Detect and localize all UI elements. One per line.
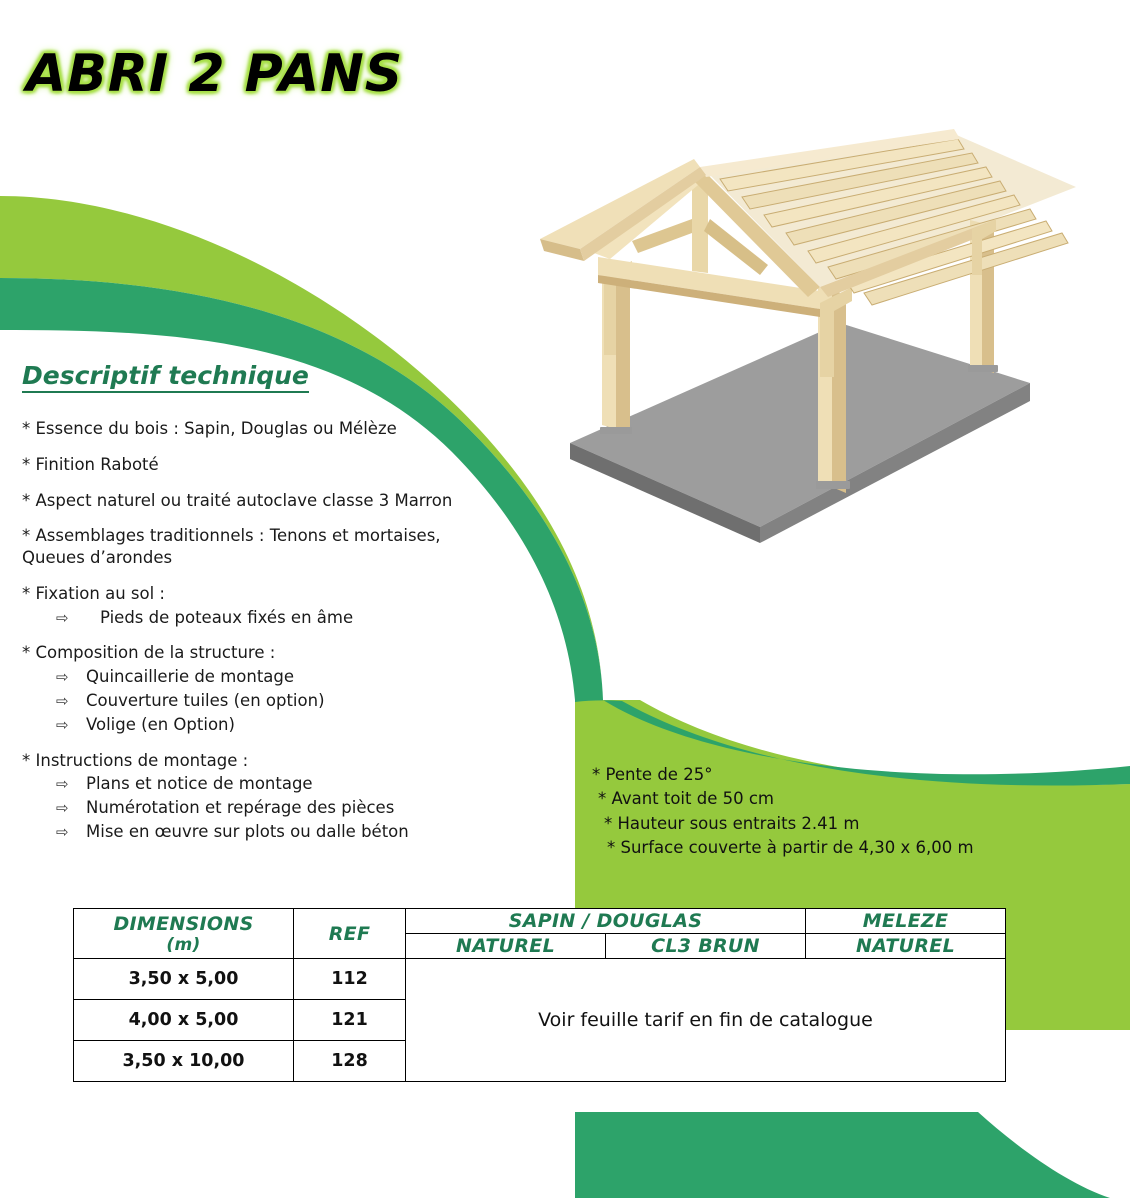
spec-group: * Assemblages traditionnels : Tenons et … bbox=[22, 525, 542, 569]
spec-main: * Composition de la structure : bbox=[22, 642, 542, 664]
dimension-spec-item: * Avant toit de 50 cm bbox=[592, 787, 974, 811]
header-naturel-sapin-douglas: NATUREL bbox=[406, 934, 606, 959]
spec-sub-item: ⇨ Pieds de poteaux fixés en âme bbox=[56, 607, 542, 629]
header-dimensions-unit: (m) bbox=[75, 935, 292, 955]
cell-ref: 128 bbox=[294, 1041, 406, 1082]
cell-price-note: Voir feuille tarif en fin de catalogue bbox=[406, 959, 1006, 1082]
arrow-right-icon: ⇨ bbox=[56, 692, 86, 712]
arrow-right-icon: ⇨ bbox=[56, 775, 86, 795]
spec-main: * Finition Raboté bbox=[22, 454, 542, 476]
spec-sub-item: ⇨ Mise en œuvre sur plots ou dalle béton bbox=[56, 821, 542, 843]
header-dimensions: DIMENSIONS (m) bbox=[74, 909, 294, 959]
spec-group: * Finition Raboté bbox=[22, 454, 542, 476]
cell-ref: 112 bbox=[294, 959, 406, 1000]
spec-sub-label: Mise en œuvre sur plots ou dalle béton bbox=[86, 821, 409, 843]
spec-main: * Instructions de montage : bbox=[22, 750, 542, 772]
dimension-spec-item: * Surface couverte à partir de 4,30 x 6,… bbox=[592, 836, 974, 860]
header-naturel-meleze: NATUREL bbox=[806, 934, 1006, 959]
table-header-row-1: DIMENSIONS (m) REF SAPIN / DOUGLAS MELEZ… bbox=[74, 909, 1006, 934]
spec-main: * Fixation au sol : bbox=[22, 583, 542, 605]
spec-main: * Aspect naturel ou traité autoclave cla… bbox=[22, 490, 542, 512]
spec-sub-label: Couverture tuiles (en option) bbox=[86, 690, 325, 712]
spec-sub-label: Quincaillerie de montage bbox=[86, 666, 294, 688]
spec-main-cont: Queues d’arondes bbox=[22, 547, 542, 569]
header-ref: REF bbox=[294, 909, 406, 959]
spec-group: * Fixation au sol : ⇨ Pieds de poteaux f… bbox=[22, 583, 542, 629]
abri-2-pans-3d-render bbox=[520, 115, 1080, 545]
cell-dimensions: 3,50 x 10,00 bbox=[74, 1041, 294, 1082]
spec-sub-label: Numérotation et repérage des pièces bbox=[86, 797, 394, 819]
dimension-spec-list: * Pente de 25° * Avant toit de 50 cm * H… bbox=[592, 763, 974, 860]
cell-ref: 121 bbox=[294, 1000, 406, 1041]
spec-group: * Essence du bois : Sapin, Douglas ou Mé… bbox=[22, 418, 542, 440]
spec-sub-item: ⇨ Couverture tuiles (en option) bbox=[56, 690, 542, 712]
arrow-right-icon: ⇨ bbox=[56, 823, 86, 843]
bottom-teal-wedge bbox=[575, 1112, 1110, 1198]
cell-dimensions: 4,00 x 5,00 bbox=[74, 1000, 294, 1041]
dimension-spec-item: * Hauteur sous entraits 2.41 m bbox=[592, 812, 974, 836]
arrow-right-icon: ⇨ bbox=[56, 799, 86, 819]
spec-sub-label: Plans et notice de montage bbox=[86, 773, 313, 795]
spec-group: * Composition de la structure : ⇨ Quinca… bbox=[22, 642, 542, 735]
spec-main: * Essence du bois : Sapin, Douglas ou Mé… bbox=[22, 418, 542, 440]
header-meleze: MELEZE bbox=[806, 909, 1006, 934]
concrete-slab bbox=[570, 323, 1030, 543]
descriptif-technique-heading: Descriptif technique bbox=[22, 362, 309, 393]
spec-sub-item: ⇨ Volige (en Option) bbox=[56, 714, 542, 736]
spec-sub-item: ⇨ Numérotation et repérage des pièces bbox=[56, 797, 542, 819]
page-title: ABRI 2 PANS bbox=[26, 44, 403, 104]
header-sapin-douglas: SAPIN / DOUGLAS bbox=[406, 909, 806, 934]
dimension-spec-item: * Pente de 25° bbox=[592, 763, 974, 787]
header-dimensions-label: DIMENSIONS bbox=[113, 913, 253, 935]
cell-dimensions: 3,50 x 5,00 bbox=[74, 959, 294, 1000]
header-cl3-brun: CL3 BRUN bbox=[606, 934, 806, 959]
technical-spec-list: * Essence du bois : Sapin, Douglas ou Mé… bbox=[22, 418, 542, 857]
price-table: DIMENSIONS (m) REF SAPIN / DOUGLAS MELEZ… bbox=[73, 908, 1006, 1082]
arrow-right-icon: ⇨ bbox=[56, 716, 86, 736]
table-row: 3,50 x 5,00 112 Voir feuille tarif en fi… bbox=[74, 959, 1006, 1000]
arrow-right-icon: ⇨ bbox=[56, 668, 86, 688]
spec-sub-item: ⇨ Quincaillerie de montage bbox=[56, 666, 542, 688]
spec-group: * Aspect naturel ou traité autoclave cla… bbox=[22, 490, 542, 512]
spec-main: * Assemblages traditionnels : Tenons et … bbox=[22, 525, 542, 547]
spec-sub-item: ⇨ Plans et notice de montage bbox=[56, 773, 542, 795]
catalog-page: ABRI 2 PANS bbox=[0, 0, 1130, 1200]
spec-sub-label: Volige (en Option) bbox=[86, 714, 235, 736]
arrow-right-icon: ⇨ bbox=[56, 609, 100, 629]
spec-sub-label: Pieds de poteaux fixés en âme bbox=[100, 607, 353, 629]
spec-group: * Instructions de montage : ⇨ Plans et n… bbox=[22, 750, 542, 843]
